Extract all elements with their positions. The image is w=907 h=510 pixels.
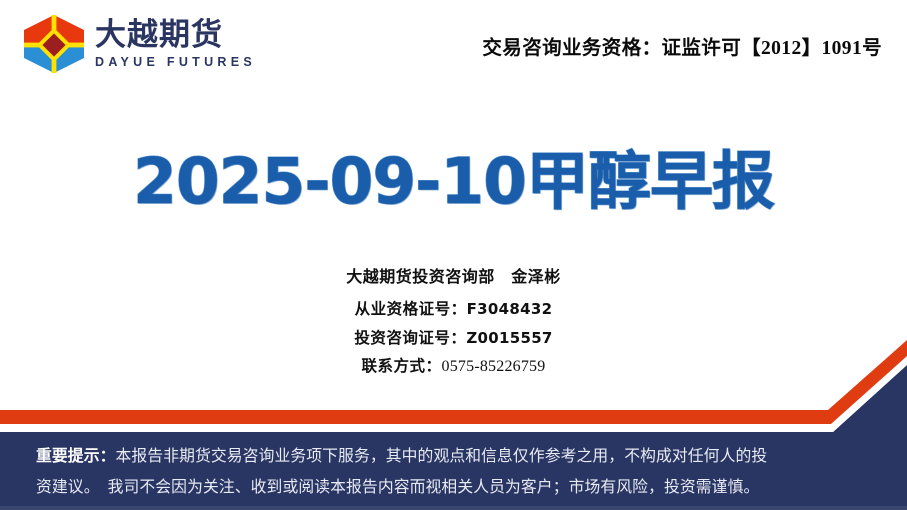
disclaimer-lead: 重要提示： bbox=[36, 448, 116, 465]
brand-name-cn: 大越期货 bbox=[95, 19, 256, 52]
dayue-hexagon-logo-icon bbox=[22, 14, 86, 74]
department-line: 大越期货投资咨询部 金泽彬 bbox=[0, 270, 907, 286]
qualification-statement: 交易咨询业务资格：证监许可【2012】1091号 bbox=[482, 31, 882, 60]
orange-accent-band bbox=[0, 340, 907, 424]
disclaimer-line-2: 资建议。 我司不会因为关注、收到或阅读本报告内容而视相关人员为客户；市场有风险，… bbox=[36, 472, 876, 503]
header: 大越期货 DAYUE FUTURES 交易咨询业务资格：证监许可【2012】10… bbox=[0, 0, 907, 92]
brand-wordmark: 大越期货 DAYUE FUTURES bbox=[95, 19, 256, 68]
practice-certificate-label: 从业资格证号： bbox=[355, 301, 467, 318]
report-cover-slide: 大越期货 DAYUE FUTURES 交易咨询业务资格：证监许可【2012】10… bbox=[0, 0, 907, 510]
practice-certificate-line: 从业资格证号：F3048432 bbox=[0, 302, 907, 318]
title-area: 2025-09-10甲醇早报 bbox=[0, 148, 907, 216]
brand-logo: 大越期货 DAYUE FUTURES bbox=[22, 14, 256, 74]
disclaimer-body-1: 本报告非期货交易咨询业务项下服务，其中的观点和信息仅作参考之用，不构成对任何人的… bbox=[116, 448, 768, 465]
disclaimer-line-1: 重要提示：本报告非期货交易咨询业务项下服务，其中的观点和信息仅作参考之用，不构成… bbox=[36, 441, 876, 472]
disclaimer-text: 重要提示：本报告非期货交易咨询业务项下服务，其中的观点和信息仅作参考之用，不构成… bbox=[36, 441, 876, 503]
practice-certificate-number: F3048432 bbox=[467, 300, 553, 318]
footer-bottom-strip bbox=[0, 506, 907, 510]
report-title: 2025-09-10甲醇早报 bbox=[133, 148, 774, 216]
brand-name-en: DAYUE FUTURES bbox=[95, 56, 256, 69]
